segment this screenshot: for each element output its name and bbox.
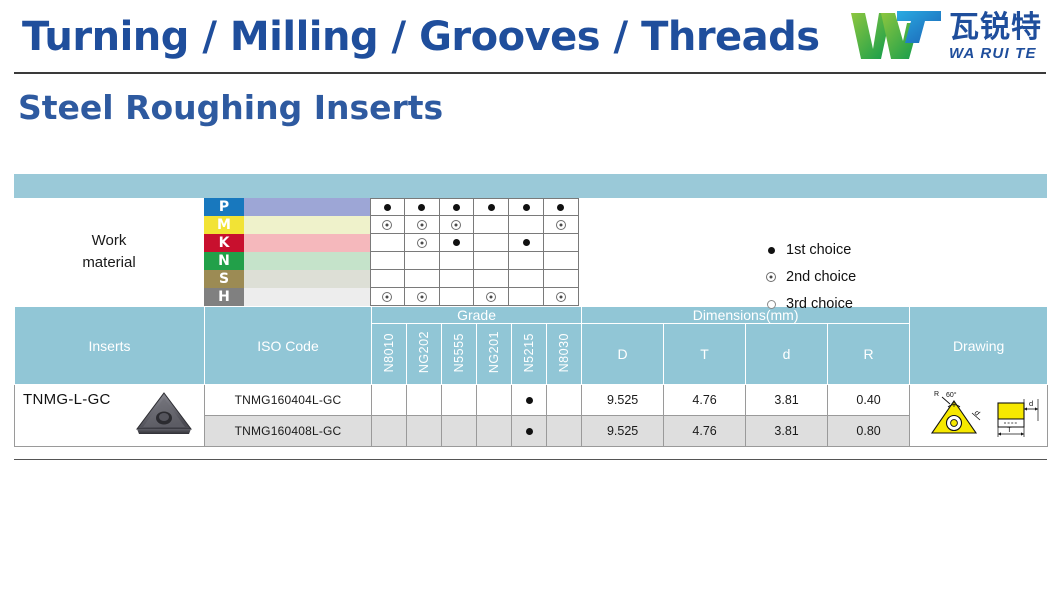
table-header-row-1: Inserts ISO Code Grade Dimensions(mm) Dr… [15, 307, 1048, 324]
work-material-label: Work material [14, 198, 204, 306]
dim-D-value: 9.525 [582, 385, 664, 416]
grade-header-N8010: N8010 [372, 324, 407, 385]
svg-text:d: d [972, 408, 981, 417]
third-choice-icon [766, 300, 776, 309]
material-mark-cell [474, 234, 509, 252]
material-mark-cell [405, 198, 440, 216]
material-group-letter-P: P [204, 198, 244, 216]
second-choice-icon [766, 272, 776, 282]
first-choice-icon [418, 204, 425, 211]
material-mark-cell [544, 270, 579, 288]
legend-label: 3rd choice [786, 296, 853, 312]
svg-text:d: d [1029, 399, 1033, 408]
material-mark-cell [509, 252, 544, 270]
second-choice-icon [556, 220, 566, 230]
material-group-band-S [244, 270, 370, 288]
choice-legend: 1st choice 2nd choice 3rd choice [766, 242, 856, 312]
material-group-letter-S: S [204, 270, 244, 288]
second-choice-icon [417, 238, 427, 248]
header-dimensions: Dimensions(mm) [582, 307, 910, 324]
dimension-header-d: d [746, 324, 828, 385]
material-mark-cell [440, 198, 475, 216]
grade-cell-N5555 [442, 416, 477, 447]
grade-cell-N8010 [372, 416, 407, 447]
material-mark-cell [440, 288, 475, 306]
material-group-letter-K: K [204, 234, 244, 252]
material-mark-cell [509, 198, 544, 216]
work-material-row-P: P [204, 198, 777, 216]
first-choice-icon [453, 204, 460, 211]
material-mark-cell [544, 198, 579, 216]
dim-R-value: 0.80 [828, 416, 910, 447]
work-material-section: Work material PMKNSH 1st choice 2nd choi… [14, 198, 1047, 306]
first-choice-icon [523, 239, 530, 246]
material-mark-cell [474, 252, 509, 270]
material-mark-cell [370, 234, 405, 252]
header-inserts: Inserts [15, 307, 205, 385]
insert-photo-icon [133, 389, 195, 440]
grade-header-N5555: N5555 [442, 324, 477, 385]
header-grade: Grade [372, 307, 582, 324]
grade-cell-NG201 [477, 385, 512, 416]
svg-text:T: T [1007, 425, 1012, 434]
grade-cell-N5215 [512, 385, 547, 416]
first-choice-icon [523, 204, 530, 211]
material-mark-cell [405, 252, 440, 270]
material-group-band-P [244, 198, 370, 216]
grade-header-NG201: NG201 [477, 324, 512, 385]
logo-wordmark: 瓦锐特 WA RUI TE [949, 13, 1042, 61]
material-mark-cell [474, 198, 509, 216]
legend-item: 1st choice [766, 242, 856, 258]
material-mark-cell [405, 288, 440, 306]
dim-d-value: 3.81 [746, 416, 828, 447]
material-mark-cell [474, 270, 509, 288]
first-choice-icon [384, 204, 391, 211]
legend-item: 2nd choice [766, 269, 856, 285]
material-group-band-M [244, 216, 370, 234]
material-mark-cell [544, 288, 579, 306]
work-material-label-line1: Work [92, 230, 127, 252]
material-mark-cell [509, 270, 544, 288]
material-mark-cell [370, 198, 405, 216]
grade-cell-NG202 [407, 416, 442, 447]
grade-cell-N8010 [372, 385, 407, 416]
svg-text:60°: 60° [946, 391, 957, 399]
catalog-table: Work material PMKNSH 1st choice 2nd choi… [14, 174, 1047, 447]
work-material-label-line2: material [82, 252, 135, 274]
grade-cell-N8030 [547, 385, 582, 416]
material-group-letter-N: N [204, 252, 244, 270]
first-choice-icon [453, 239, 460, 246]
table-top-bar [14, 174, 1047, 198]
brand-logo: 瓦锐特 WA RUI TE [847, 9, 1046, 66]
grade-cell-NG201 [477, 416, 512, 447]
material-mark-cell [440, 270, 475, 288]
material-mark-cell [440, 216, 475, 234]
dim-T-value: 4.76 [664, 385, 746, 416]
work-material-row-N: N [204, 252, 777, 270]
page-subtitle: Steel Roughing Inserts [0, 74, 1060, 127]
material-mark-cell [509, 234, 544, 252]
insert-family-cell: TNMG-L-GC [15, 385, 205, 447]
technical-drawing-cell: R 60° d [910, 385, 1048, 447]
second-choice-icon [382, 220, 392, 230]
grade-header-N8030: N8030 [547, 324, 582, 385]
material-mark-cell [370, 252, 405, 270]
grade-cell-N5215 [512, 416, 547, 447]
material-group-band-N [244, 252, 370, 270]
page-header: Turning / Milling / Grooves / Threads [0, 0, 1060, 66]
legend-label: 1st choice [786, 242, 851, 258]
grade-cell-N8030 [547, 416, 582, 447]
material-mark-cell [544, 234, 579, 252]
second-choice-icon [451, 220, 461, 230]
material-mark-cell [440, 234, 475, 252]
material-group-band-H [244, 288, 370, 306]
work-material-row-H: H [204, 288, 777, 306]
header-drawing: Drawing [910, 307, 1048, 385]
logo-chinese-name: 瓦锐特 [949, 13, 1042, 43]
iso-code-value: TNMG160404L-GC [205, 385, 372, 416]
first-choice-icon [557, 204, 564, 211]
second-choice-icon [417, 292, 427, 302]
material-mark-cell [370, 270, 405, 288]
dim-D-value: 9.525 [582, 416, 664, 447]
material-group-letter-H: H [204, 288, 244, 306]
header-iso-code: ISO Code [205, 307, 372, 385]
grade-header-NG202: NG202 [407, 324, 442, 385]
company-logo-icon [847, 9, 943, 66]
table-row: TNMG-L-GC [15, 385, 1048, 416]
logo-english-name: WA RUI TE [949, 46, 1042, 61]
iso-code-value: TNMG160408L-GC [205, 416, 372, 447]
second-choice-icon [556, 292, 566, 302]
second-choice-icon [486, 292, 496, 302]
material-mark-cell [509, 216, 544, 234]
material-mark-cell [544, 252, 579, 270]
first-choice-icon [766, 247, 776, 254]
material-group-letter-M: M [204, 216, 244, 234]
dimension-header-D: D [582, 324, 664, 385]
page-title: Turning / Milling / Grooves / Threads [22, 14, 820, 60]
material-mark-cell [370, 288, 405, 306]
dimension-header-T: T [664, 324, 746, 385]
dimension-header-R: R [828, 324, 910, 385]
legend-label: 2nd choice [786, 269, 856, 285]
table-bottom-divider [14, 459, 1047, 460]
dim-d-value: 3.81 [746, 385, 828, 416]
grade-header-N5215: N5215 [512, 324, 547, 385]
material-mark-cell [440, 252, 475, 270]
material-mark-cell [405, 216, 440, 234]
material-mark-cell [370, 216, 405, 234]
material-mark-cell [474, 216, 509, 234]
grade-cell-NG202 [407, 385, 442, 416]
material-mark-cell [474, 288, 509, 306]
material-mark-cell [405, 270, 440, 288]
material-mark-cell [509, 288, 544, 306]
work-material-row-S: S [204, 270, 777, 288]
work-material-matrix: PMKNSH [204, 198, 777, 306]
svg-text:R: R [934, 391, 939, 398]
grade-cell-N5555 [442, 385, 477, 416]
material-mark-cell [405, 234, 440, 252]
second-choice-icon [417, 220, 427, 230]
second-choice-icon [382, 292, 392, 302]
dim-T-value: 4.76 [664, 416, 746, 447]
work-material-row-K: K [204, 234, 777, 252]
first-choice-icon [488, 204, 495, 211]
specification-table: Inserts ISO Code Grade Dimensions(mm) Dr… [14, 306, 1048, 447]
dim-R-value: 0.40 [828, 385, 910, 416]
legend-item: 3rd choice [766, 296, 856, 312]
material-mark-cell [544, 216, 579, 234]
work-material-row-M: M [204, 216, 777, 234]
insert-dimension-drawing-icon: R 60° d [912, 387, 1046, 441]
material-group-band-K [244, 234, 370, 252]
